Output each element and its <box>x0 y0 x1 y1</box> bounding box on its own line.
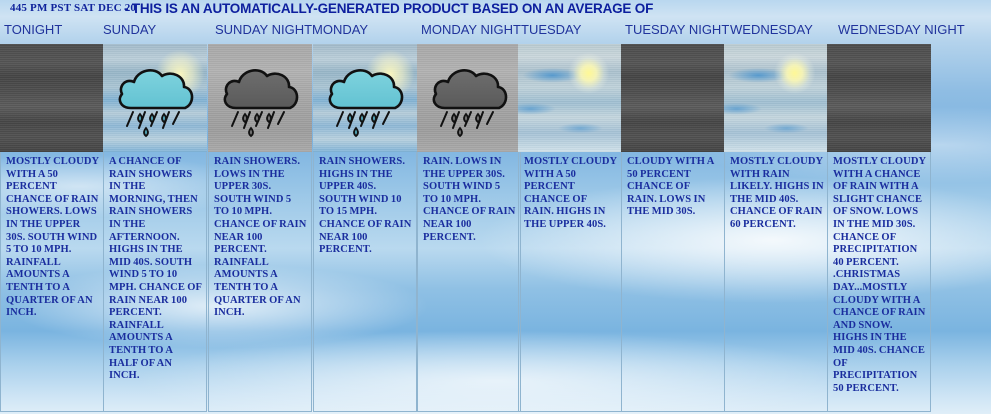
forecast-text: RAIN SHOWERS. LOWS IN THE UPPER 30S. SOU… <box>214 156 308 320</box>
forecast-column: MOSTLY CLOUDY WITH A CHANCE OF RAIN WITH… <box>827 44 931 412</box>
forecast-text-box: A CHANCE OF RAIN SHOWERS IN THE MORNING,… <box>103 152 207 412</box>
rain-cloud-night-icon <box>417 44 521 152</box>
forecast-column: MOSTLY CLOUDY WITH A 50 PERCENT CHANCE O… <box>518 44 622 412</box>
forecast-text-box: CLOUDY WITH A 50 PERCENT CHANCE OF RAIN.… <box>621 152 725 412</box>
forecast-columns: MOSTLY CLOUDY WITH A 50 PERCENT CHANCE O… <box>0 44 991 414</box>
forecast-column: CLOUDY WITH A 50 PERCENT CHANCE OF RAIN.… <box>621 44 725 412</box>
forecast-column: MOSTLY CLOUDY WITH RAIN LIKELY. HIGHS IN… <box>724 44 828 412</box>
column-header-monday: MONDAY <box>312 22 368 37</box>
forecast-text: CLOUDY WITH A 50 PERCENT CHANCE OF RAIN.… <box>627 156 721 219</box>
rain-shower-cloud-sun-icon <box>103 44 207 152</box>
forecast-text-box: MOSTLY CLOUDY WITH A CHANCE OF RAIN WITH… <box>827 152 931 412</box>
column-header-wednesday-night: WEDNESDAY NIGHT <box>838 22 965 37</box>
night-dark-sky-icon <box>621 44 725 152</box>
forecast-text: MOSTLY CLOUDY WITH RAIN LIKELY. HIGHS IN… <box>730 156 824 232</box>
column-header-wednesday: WEDNESDAY <box>730 22 813 37</box>
forecast-text: A CHANCE OF RAIN SHOWERS IN THE MORNING,… <box>109 156 203 383</box>
forecast-text: RAIN SHOWERS. HIGHS IN THE UPPER 40S. SO… <box>319 156 413 257</box>
night-dark-sky-icon <box>827 44 931 152</box>
column-header-row: TONIGHTSUNDAYSUNDAY NIGHTMONDAYMONDAY NI… <box>0 20 991 44</box>
rain-cloud-night-icon <box>208 44 312 152</box>
headline-band: 445 PM PST SAT DEC 20 - THIS IS AN AUTOM… <box>0 0 991 20</box>
column-header-tuesday: TUESDAY <box>521 22 581 37</box>
column-header-tuesday-night: TUESDAY NIGHT <box>625 22 729 37</box>
column-header-tonight: TONIGHT <box>4 22 62 37</box>
night-dark-sky-icon <box>0 44 104 152</box>
forecast-text-box: RAIN SHOWERS. LOWS IN THE UPPER 30S. SOU… <box>208 152 312 412</box>
hazy-sun-icon <box>724 44 828 152</box>
forecast-text: MOSTLY CLOUDY WITH A 50 PERCENT CHANCE O… <box>524 156 618 232</box>
forecast-column: RAIN SHOWERS. HIGHS IN THE UPPER 40S. SO… <box>313 44 417 412</box>
issuance-timestamp: 445 PM PST SAT DEC 20 <box>10 2 136 14</box>
auto-generated-notice: - THIS IS AN AUTOMATICALLY-GENERATED PRO… <box>124 1 653 16</box>
rain-shower-cloud-sun-icon <box>313 44 417 152</box>
hazy-sun-icon <box>518 44 622 152</box>
forecast-column: RAIN SHOWERS. LOWS IN THE UPPER 30S. SOU… <box>208 44 312 412</box>
forecast-page: 445 PM PST SAT DEC 20 - THIS IS AN AUTOM… <box>0 0 991 414</box>
column-header-sunday-night: SUNDAY NIGHT <box>215 22 312 37</box>
forecast-column: A CHANCE OF RAIN SHOWERS IN THE MORNING,… <box>103 44 207 412</box>
column-header-sunday: SUNDAY <box>103 22 156 37</box>
forecast-text-box: MOSTLY CLOUDY WITH A 50 PERCENT CHANCE O… <box>518 152 622 412</box>
forecast-text-box: MOSTLY CLOUDY WITH A 50 PERCENT CHANCE O… <box>0 152 104 412</box>
forecast-text-box: RAIN. LOWS IN THE UPPER 30S. SOUTH WIND … <box>417 152 521 412</box>
forecast-text: MOSTLY CLOUDY WITH A 50 PERCENT CHANCE O… <box>6 156 100 320</box>
forecast-column: MOSTLY CLOUDY WITH A 50 PERCENT CHANCE O… <box>0 44 104 412</box>
forecast-text-box: RAIN SHOWERS. HIGHS IN THE UPPER 40S. SO… <box>313 152 417 412</box>
column-header-monday-night: MONDAY NIGHT <box>421 22 521 37</box>
forecast-text: RAIN. LOWS IN THE UPPER 30S. SOUTH WIND … <box>423 156 517 244</box>
forecast-column: RAIN. LOWS IN THE UPPER 30S. SOUTH WIND … <box>417 44 521 412</box>
forecast-text-box: MOSTLY CLOUDY WITH RAIN LIKELY. HIGHS IN… <box>724 152 828 412</box>
forecast-text: MOSTLY CLOUDY WITH A CHANCE OF RAIN WITH… <box>833 156 927 395</box>
